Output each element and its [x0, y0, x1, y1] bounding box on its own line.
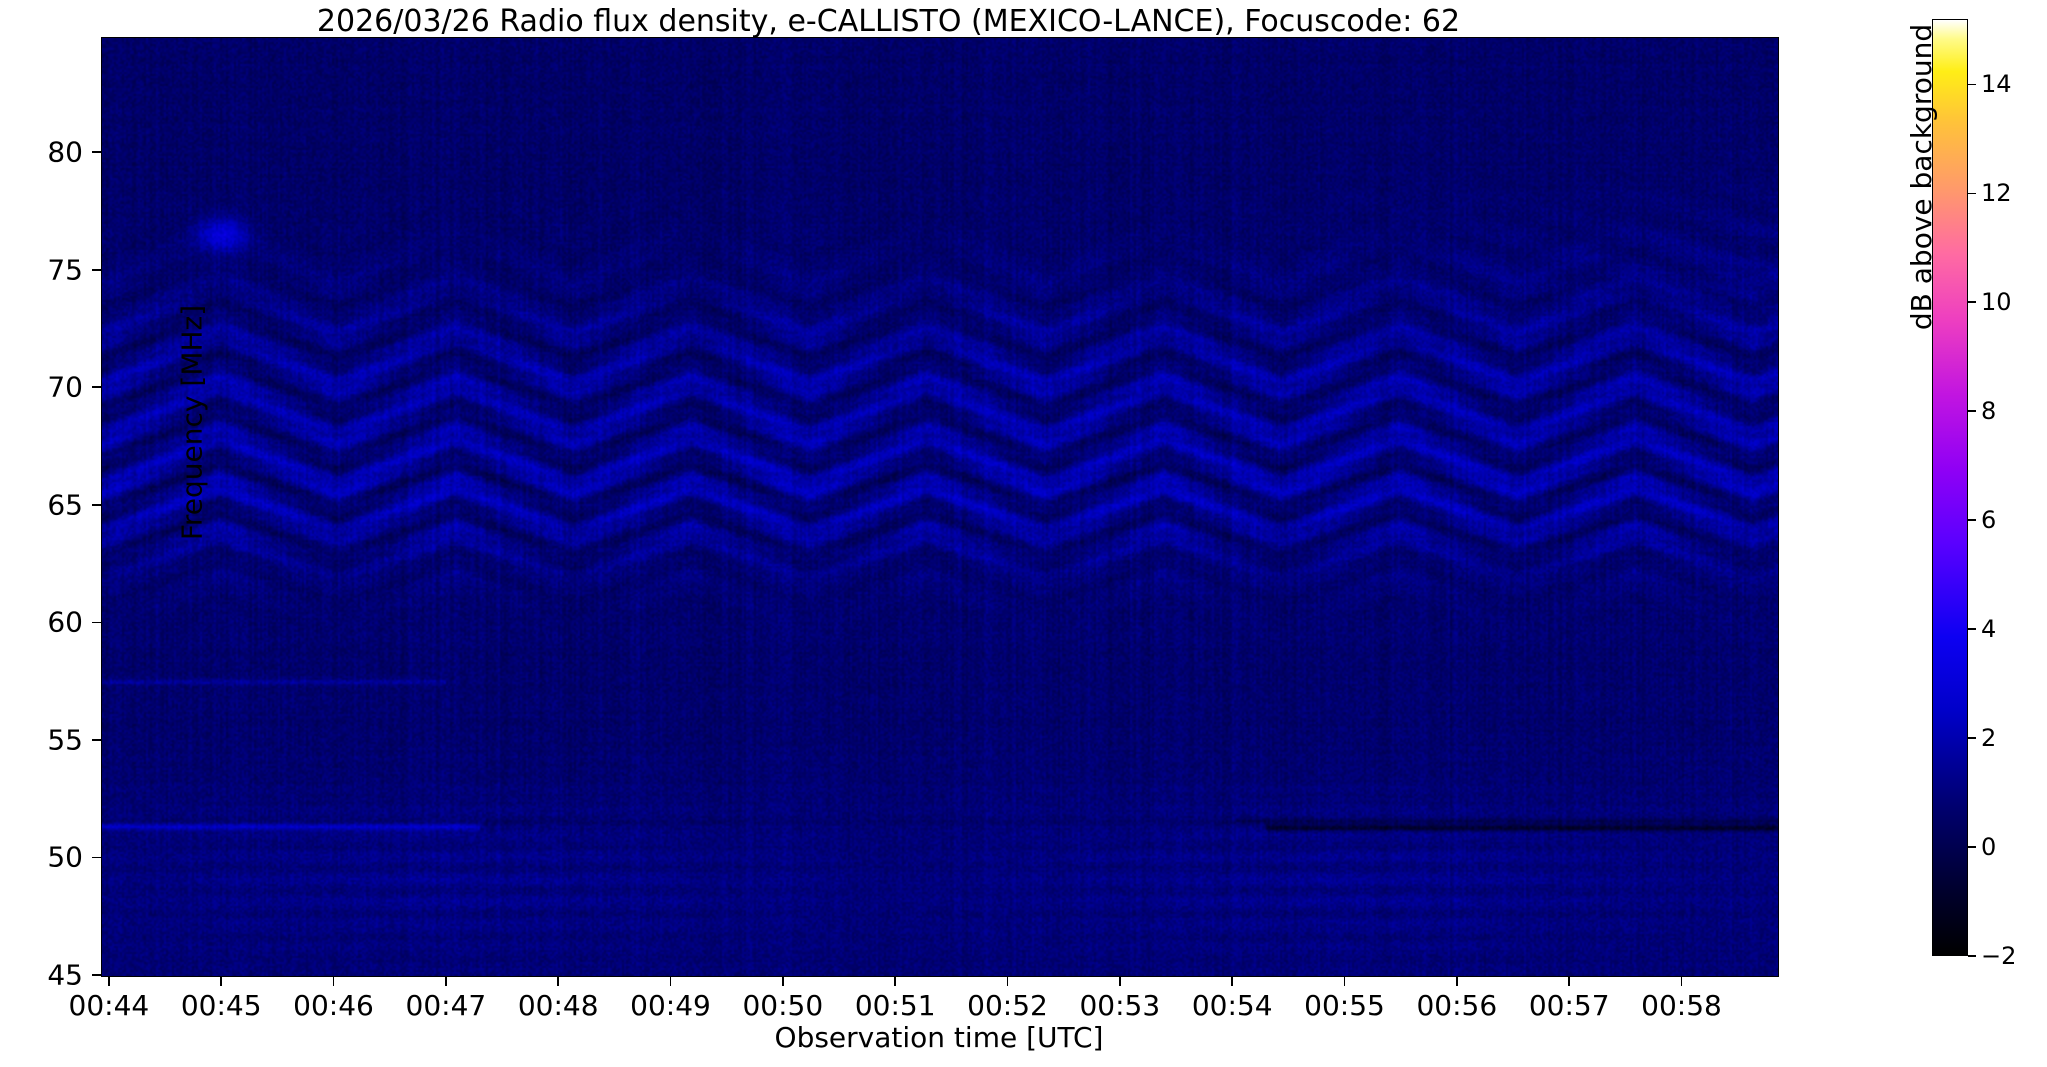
x-tick-label: 00:57: [1529, 989, 1610, 1022]
colorbar-tick-label: 2: [1981, 724, 1996, 752]
x-tick-mark: [1119, 977, 1121, 986]
spectrogram-image: [102, 38, 1778, 976]
colorbar-tick-label: −2: [1981, 942, 2016, 970]
x-tick-label: 00:50: [742, 989, 823, 1022]
x-tick-mark: [1231, 977, 1233, 986]
colorbar-tick-mark: [1968, 519, 1976, 521]
x-axis-label: Observation time [UTC]: [101, 1021, 1777, 1054]
y-tick-label: 80: [0, 136, 83, 169]
x-tick-mark: [1681, 977, 1683, 986]
y-tick-label: 50: [0, 841, 83, 874]
y-tick-mark: [92, 622, 101, 624]
y-tick-mark: [92, 151, 101, 153]
y-axis-label: Frequency [MHz]: [176, 223, 209, 623]
colorbar-tick-label: 14: [1981, 70, 2012, 98]
page-title: 2026/03/26 Radio flux density, e-CALLIST…: [0, 4, 1777, 39]
colorbar-tick-label: 8: [1981, 397, 1996, 425]
x-tick-mark: [557, 977, 559, 986]
y-tick-mark: [92, 269, 101, 271]
colorbar-tick-mark: [1968, 628, 1976, 630]
x-tick-label: 00:55: [1304, 989, 1385, 1022]
colorbar-tick-mark: [1968, 846, 1976, 848]
x-tick-label: 00:45: [181, 989, 262, 1022]
y-tick-mark: [92, 974, 101, 976]
x-tick-label: 00:44: [69, 989, 150, 1022]
x-tick-mark: [1456, 977, 1458, 986]
y-tick-label: 70: [0, 371, 83, 404]
x-tick-mark: [894, 977, 896, 986]
y-tick-label: 60: [0, 606, 83, 639]
x-tick-mark: [445, 977, 447, 986]
colorbar-tick-label: 12: [1981, 179, 2012, 207]
x-tick-mark: [108, 977, 110, 986]
x-tick-label: 00:52: [967, 989, 1048, 1022]
x-tick-mark: [220, 977, 222, 986]
y-tick-label: 55: [0, 723, 83, 756]
colorbar-tick-label: 0: [1981, 833, 1996, 861]
x-tick-label: 00:54: [1192, 989, 1273, 1022]
x-tick-mark: [782, 977, 784, 986]
x-tick-label: 00:46: [293, 989, 374, 1022]
x-tick-mark: [1344, 977, 1346, 986]
y-tick-mark: [92, 504, 101, 506]
y-tick-label: 75: [0, 253, 83, 286]
y-tick-label: 65: [0, 488, 83, 521]
y-tick-mark: [92, 386, 101, 388]
x-tick-label: 00:48: [518, 989, 599, 1022]
x-tick-mark: [1568, 977, 1570, 986]
colorbar-tick-label: 4: [1981, 615, 1996, 643]
x-tick-label: 00:53: [1079, 989, 1160, 1022]
x-tick-label: 00:51: [855, 989, 936, 1022]
x-tick-mark: [1007, 977, 1009, 986]
y-tick-mark: [92, 739, 101, 741]
x-tick-label: 00:47: [406, 989, 487, 1022]
y-tick-label: 45: [0, 959, 83, 992]
y-tick-mark: [92, 857, 101, 859]
x-tick-label: 00:56: [1416, 989, 1497, 1022]
colorbar-tick-mark: [1968, 410, 1976, 412]
x-tick-label: 00:49: [630, 989, 711, 1022]
colorbar-tick-mark: [1968, 955, 1976, 957]
colorbar-tick-mark: [1968, 737, 1976, 739]
colorbar-tick-label: 10: [1981, 288, 2012, 316]
colorbar-label: dB above background: [1905, 0, 1938, 487]
colorbar-tick-mark: [1968, 193, 1976, 195]
spectrogram-plot-area: [101, 37, 1779, 977]
spectrogram-figure: 2026/03/26 Radio flux density, e-CALLIST…: [0, 0, 2047, 1067]
x-tick-mark: [333, 977, 335, 986]
colorbar-tick-mark: [1968, 84, 1976, 86]
x-tick-label: 00:58: [1641, 989, 1722, 1022]
colorbar-tick-mark: [1968, 301, 1976, 303]
x-tick-mark: [670, 977, 672, 986]
colorbar-tick-label: 6: [1981, 506, 1996, 534]
